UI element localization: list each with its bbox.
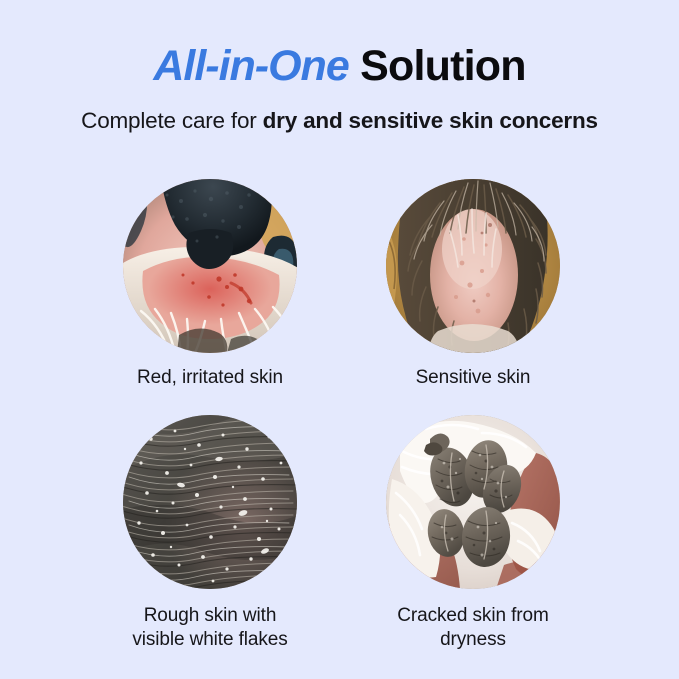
dog-dark-coat-white-flakes-photo [123,415,297,589]
photo-wrapper [78,412,342,592]
condition-card-rough-skin-flakes: Rough skin withvisible white flakes [78,412,342,651]
caption-line-2: visible white flakes [132,629,287,650]
condition-card-sensitive-skin: Sensitive skin [341,176,605,390]
caption-line-1: Cracked skin from [397,605,548,626]
dog-paw-pads-cracked-dry-photo [386,415,560,589]
dog-thinning-fur-pink-skin-photo [386,179,560,353]
condition-caption: Rough skin withvisible white flakes [78,592,342,651]
infographic-page: All-in-One Solution Complete care for dr… [0,0,679,679]
condition-caption: Sensitive skin [341,356,605,390]
subtitle-strong-text: dry and sensitive skin concerns [263,108,598,133]
photo-wrapper [341,176,605,356]
caption-line-1: Red, irritated skin [137,367,283,388]
page-subtitle: Complete care for dry and sensitive skin… [0,91,679,135]
caption-line-2: dryness [440,629,506,650]
condition-caption: Red, irritated skin [78,356,342,390]
condition-card-red-irritated-skin: Red, irritated skin [78,176,342,390]
condition-caption: Cracked skin fromdryness [341,592,605,651]
caption-line-1: Rough skin with [144,605,277,626]
caption-line-1: Sensitive skin [416,367,531,388]
title-main-text: Solution [360,42,526,90]
page-title: All-in-One Solution [0,0,679,91]
title-space [349,42,360,90]
dog-muzzle-red-irritated-skin-photo [123,179,297,353]
photo-wrapper [78,176,342,356]
condition-card-cracked-skin-dryness: Cracked skin fromdryness [341,412,605,651]
subtitle-normal-text: Complete care for [81,108,262,133]
title-accent-text: All-in-One [153,42,348,90]
header: All-in-One Solution Complete care for dr… [0,0,679,135]
photo-wrapper [341,412,605,592]
conditions-grid: Red, irritated skin [0,176,679,676]
